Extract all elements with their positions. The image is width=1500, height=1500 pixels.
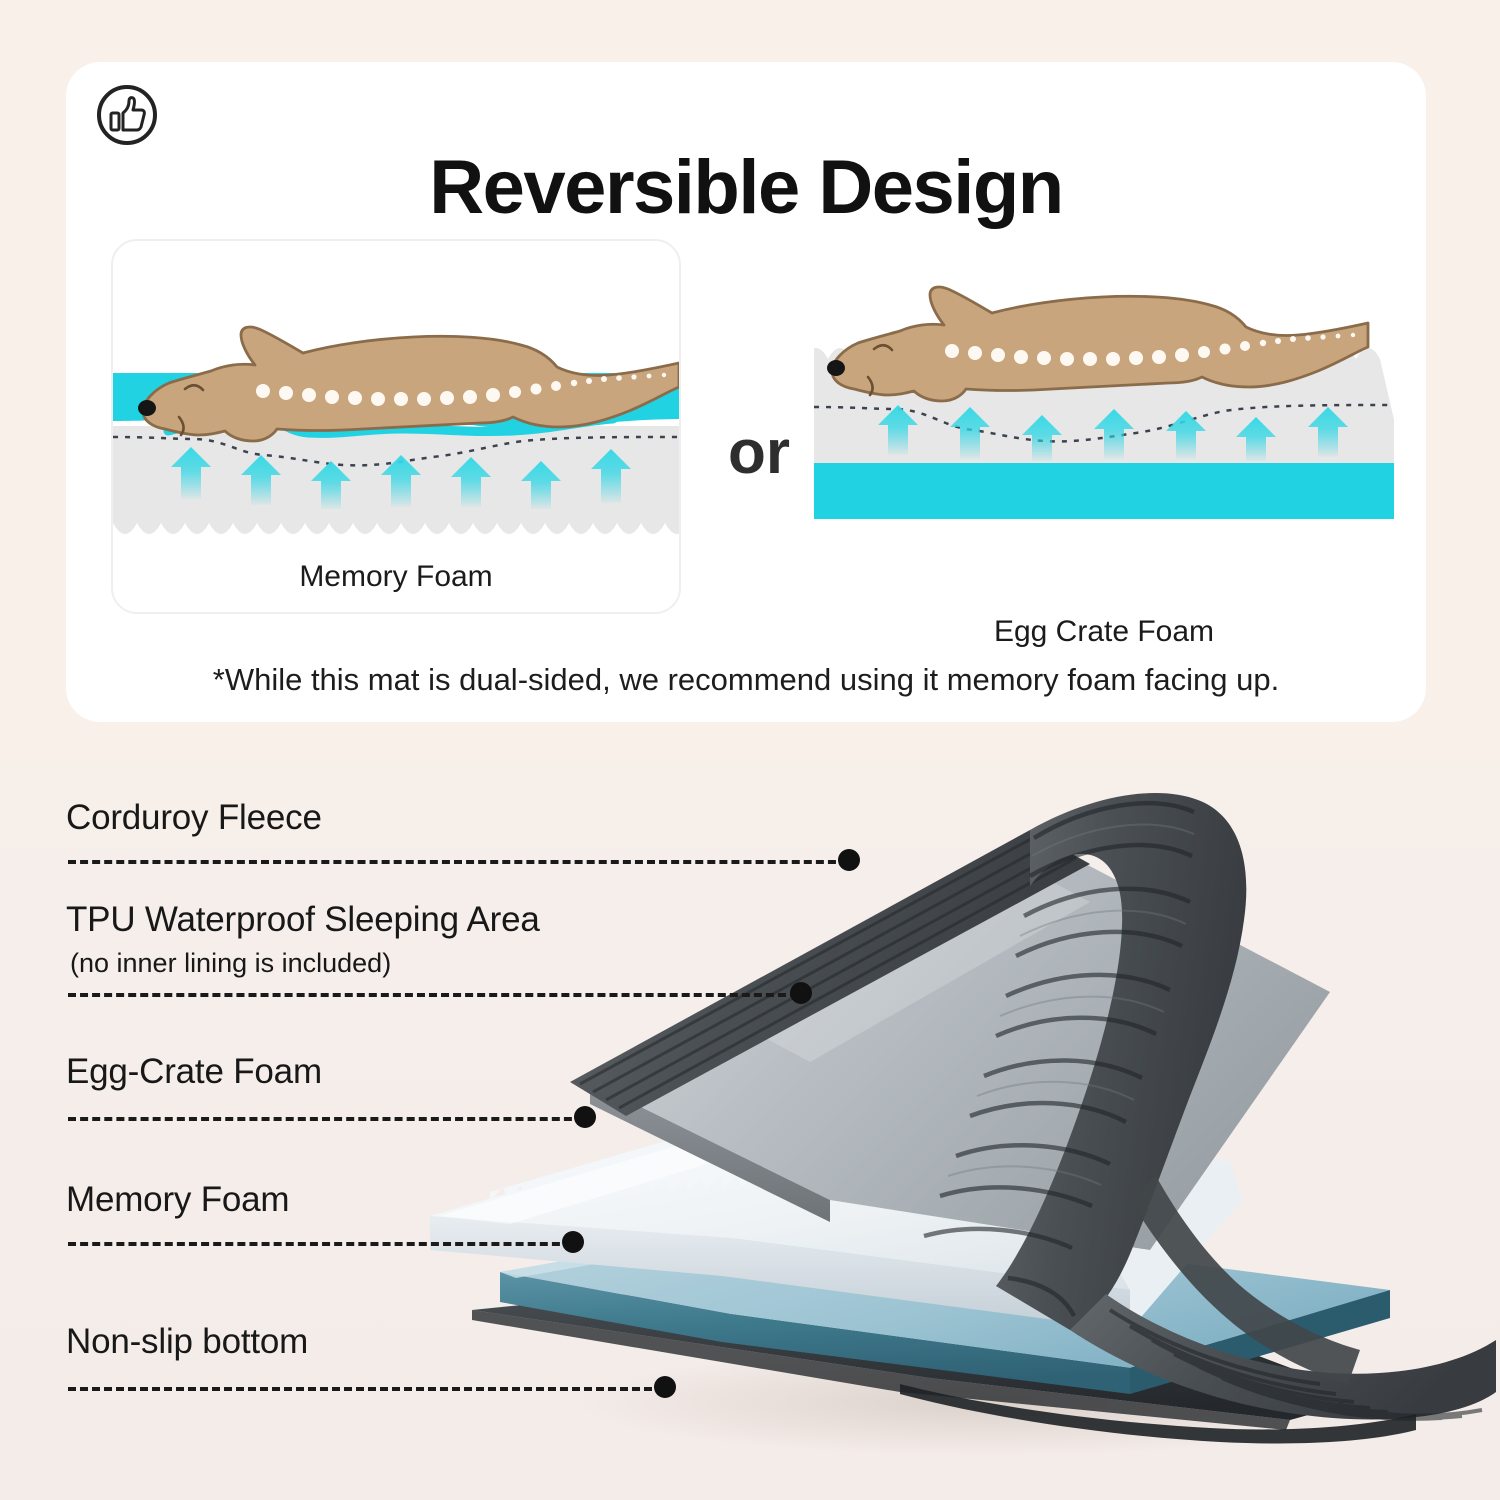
egg-crate-panel	[814, 239, 1394, 614]
thumbs-up-icon	[96, 84, 158, 146]
leader-dot-tpu-waterproof	[790, 982, 812, 1004]
memory-foam-panel: Memory Foam	[111, 239, 681, 614]
layer-sublabel-tpu-waterproof: (no inner lining is included)	[70, 948, 391, 979]
leader-line-memory-foam	[68, 1242, 572, 1246]
layer-label-egg-crate-foam: Egg-Crate Foam	[66, 1052, 322, 1092]
leader-line-non-slip-bottom	[68, 1387, 664, 1391]
memory-foam-diagram	[113, 241, 679, 612]
leader-dot-memory-foam	[562, 1231, 584, 1253]
reversible-design-card: Reversible Design	[66, 62, 1426, 722]
egg-crate-caption: Egg Crate Foam	[814, 615, 1394, 649]
layer-label-non-slip-bottom: Non-slip bottom	[66, 1322, 308, 1362]
page-title: Reversible Design	[66, 144, 1426, 231]
leader-line-tpu-waterproof	[68, 993, 798, 997]
card-footnote: *While this mat is dual-sided, we recomm…	[66, 662, 1426, 698]
page-root: Reversible Design	[0, 0, 1500, 1500]
memory-foam-caption: Memory Foam	[113, 560, 679, 594]
or-divider-label: or	[704, 417, 814, 488]
layer-label-corduroy-fleece: Corduroy Fleece	[66, 798, 322, 838]
leader-dot-egg-crate-foam	[574, 1106, 596, 1128]
egg-crate-diagram	[814, 239, 1394, 614]
layers-section: Corduroy Fleece TPU Waterproof Sleeping …	[0, 730, 1500, 1500]
leader-dot-corduroy-fleece	[838, 849, 860, 871]
layer-label-memory-foam: Memory Foam	[66, 1180, 289, 1220]
leader-line-egg-crate-foam	[68, 1117, 584, 1121]
leader-dot-non-slip-bottom	[654, 1376, 676, 1398]
layer-label-tpu-waterproof: TPU Waterproof Sleeping Area	[66, 900, 540, 940]
leader-line-corduroy-fleece	[68, 860, 848, 864]
